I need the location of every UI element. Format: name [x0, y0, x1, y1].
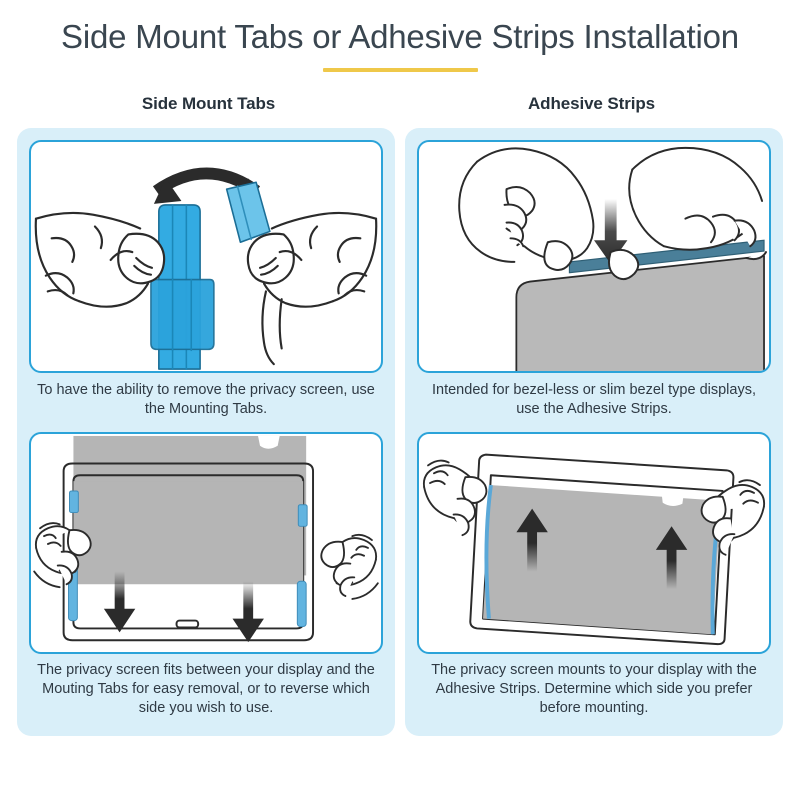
card-side-mount-tabs: To have the ability to remove the privac… [17, 128, 395, 736]
figure-privacy-screen-mounted-adhesive [417, 432, 771, 654]
figure-hands-pressing-adhesive-strip [417, 140, 771, 373]
caption-mounting-tabs-removal: To have the ability to remove the privac… [29, 373, 383, 421]
caption-bezel-less-adhesive: Intended for bezel-less or slim bezel ty… [417, 373, 771, 421]
column-header-adhesive-strips: Adhesive Strips [400, 94, 783, 114]
panel-columns: To have the ability to remove the privac… [0, 128, 800, 736]
title-accent-bar [323, 68, 478, 72]
installation-guide-page: Side Mount Tabs or Adhesive Strips Insta… [0, 0, 800, 800]
card-adhesive-strips: Intended for bezel-less or slim bezel ty… [405, 128, 783, 736]
column-headers: Side Mount Tabs Adhesive Strips [0, 94, 800, 114]
page-title: Side Mount Tabs or Adhesive Strips Insta… [0, 0, 800, 58]
figure-privacy-screen-sliding-into-mounting-tabs [29, 432, 383, 654]
column-header-side-mount-tabs: Side Mount Tabs [17, 94, 400, 114]
caption-privacy-screen-mounts-adhesive: The privacy screen mounts to your displa… [417, 654, 771, 720]
caption-privacy-screen-fits-between: The privacy screen fits between your dis… [29, 654, 383, 720]
figure-hands-peeling-mounting-tab [29, 140, 383, 373]
